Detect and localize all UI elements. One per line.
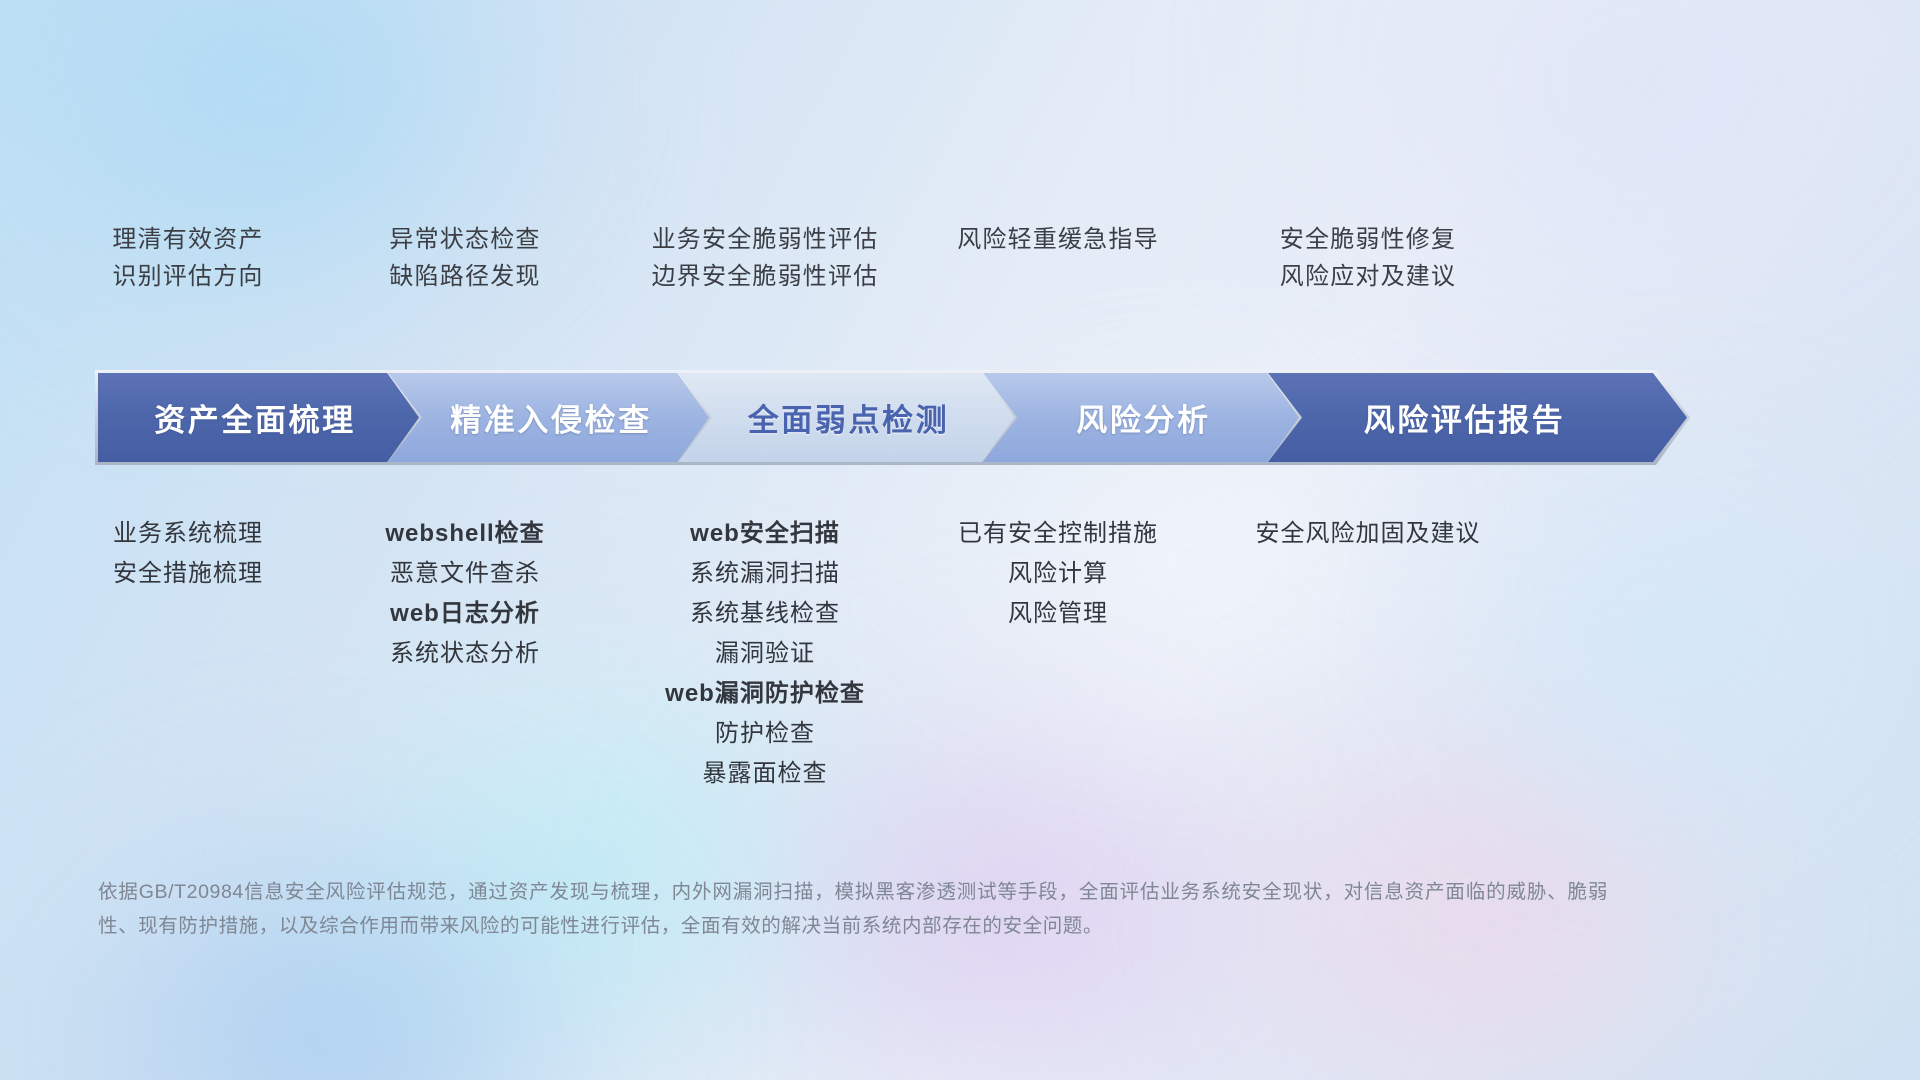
top-label-item: 边界安全脆弱性评估: [652, 265, 879, 289]
bottom-labels-risk-report: 安全风险加固及建议: [1138, 500, 1598, 546]
diagram-content: 理清有效资产识别评估方向异常状态检查缺陷路径发现业务安全脆弱性评估边界安全脆弱性…: [0, 0, 1920, 1080]
bottom-label-item: web漏洞防护检查: [665, 682, 865, 706]
stage-chevron-risk-analysis[interactable]: 风险分析: [980, 370, 1305, 465]
bottom-label-item: 风险计算: [1008, 562, 1108, 586]
bottom-label-item: 安全风险加固及建议: [1256, 522, 1481, 546]
chevron-band: 资产全面梳理精准入侵检查全面弱点检测风险分析风险评估报告: [95, 370, 1850, 465]
stage-chevron-intrusion-check[interactable]: 精准入侵检查: [385, 370, 715, 465]
bottom-label-item: 系统漏洞扫描: [690, 562, 840, 586]
bottom-label-item: web安全扫描: [690, 522, 840, 546]
top-label-item: 风险应对及建议: [1280, 265, 1456, 289]
bottom-label-item: 系统基线检查: [690, 602, 840, 626]
top-label-item: 缺陷路径发现: [389, 265, 540, 289]
top-label-item: 安全脆弱性修复: [1280, 228, 1456, 252]
stage-label: 资产全面梳理: [154, 395, 356, 440]
stage-label: 精准入侵检查: [450, 395, 652, 440]
bottom-label-item: 防护检查: [715, 722, 815, 746]
bottom-label-item: 已有安全控制措施: [958, 522, 1158, 546]
bottom-label-item: 恶意文件查杀: [390, 562, 540, 586]
top-label-item: 风险轻重缓急指导: [957, 228, 1159, 252]
bottom-label-item: webshell检查: [385, 522, 544, 546]
stage-chevron-weakness-detection[interactable]: 全面弱点检测: [675, 370, 1020, 465]
stage-label: 风险评估报告: [1364, 395, 1566, 440]
bottom-label-item: web日志分析: [390, 602, 540, 626]
stage-chevron-asset-review[interactable]: 资产全面梳理: [95, 370, 425, 465]
top-label-item: 异常状态检查: [389, 228, 540, 252]
footer-description: 依据GB/T20984信息安全风险评估规范，通过资产发现与梳理，内外网漏洞扫描，…: [98, 875, 1608, 943]
stage-label: 全面弱点检测: [748, 395, 950, 440]
bottom-label-item: 漏洞验证: [715, 642, 815, 666]
top-labels-risk-report: 安全脆弱性修复风险应对及建议: [1138, 228, 1598, 289]
bottom-label-item: 系统状态分析: [390, 642, 540, 666]
stage-chevron-risk-report[interactable]: 风险评估报告: [1265, 370, 1690, 465]
bottom-label-item: 风险管理: [1008, 602, 1108, 626]
bottom-label-item: 暴露面检查: [703, 762, 828, 786]
top-labels-row: 理清有效资产识别评估方向异常状态检查缺陷路径发现业务安全脆弱性评估边界安全脆弱性…: [0, 228, 1920, 328]
stage-label: 风险分析: [1076, 395, 1210, 440]
